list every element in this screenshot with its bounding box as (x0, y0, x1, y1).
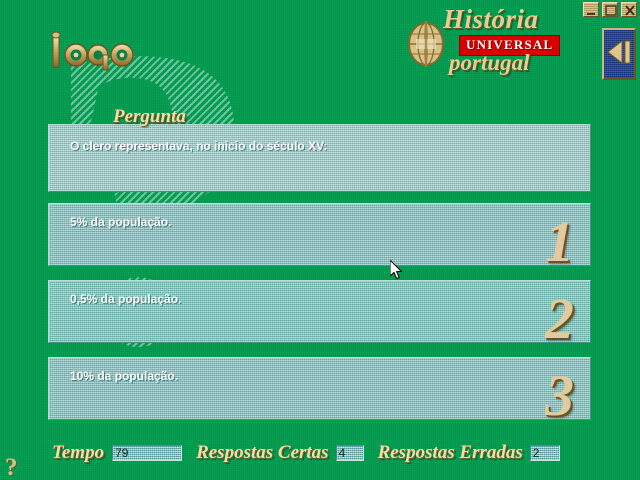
maximize-button[interactable] (602, 2, 618, 17)
wrong-value: 2 (530, 445, 560, 461)
correct-value: 4 (336, 445, 364, 461)
close-button[interactable] (621, 2, 637, 17)
answer-option-3[interactable]: 10% da população. 3 (48, 357, 591, 420)
answer-text-2: 0,5% da população. (70, 292, 181, 306)
answer-number-2: 2 (545, 290, 574, 348)
section-label: Pergunta (113, 106, 186, 128)
answer-option-1[interactable]: 5% da população. 1 (48, 203, 591, 266)
window-controls (583, 2, 637, 17)
title-portugal: portugal (449, 50, 530, 76)
answer-text-3: 10% da população. (70, 369, 178, 383)
app-branding: História UNIVERSAL portugal (405, 6, 585, 76)
status-bar: Tempo 79 Respostas Certas 4 Respostas Er… (0, 438, 640, 468)
answer-text-1: 5% da população. (70, 215, 171, 229)
back-button[interactable] (602, 28, 636, 80)
time-label: Tempo (52, 442, 104, 464)
game-window: ? (0, 0, 640, 480)
wrong-label: Respostas Erradas (378, 442, 523, 464)
answer-option-2[interactable]: 0,5% da população. 2 (48, 280, 591, 343)
correct-label: Respostas Certas (196, 442, 329, 464)
minimize-button[interactable] (583, 2, 599, 17)
jogo-wordmark (46, 30, 138, 77)
answer-number-3: 3 (545, 367, 574, 425)
title-historia: História (443, 4, 539, 35)
question-text: O clero representava, no inicio do sécul… (70, 139, 327, 153)
answer-number-1: 1 (545, 213, 574, 271)
question-panel: O clero representava, no inicio do sécul… (48, 124, 591, 192)
back-arrow-icon (605, 37, 633, 72)
time-value: 79 (112, 445, 182, 461)
globe-icon (405, 20, 447, 73)
help-icon[interactable]: ? (5, 455, 18, 480)
